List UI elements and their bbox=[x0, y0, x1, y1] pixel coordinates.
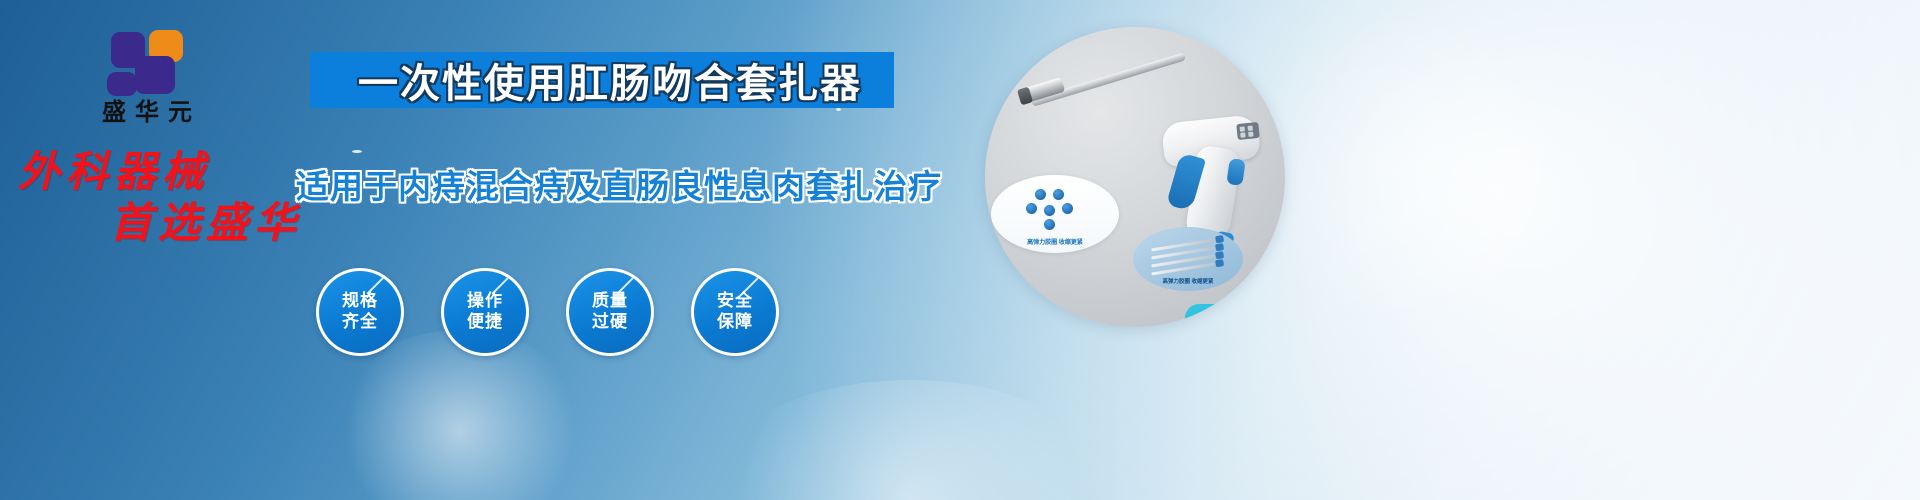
badge-label: 规格 齐全 bbox=[342, 291, 378, 332]
page-subtitle: 适用于内痔混合痔及直肠良性息肉套扎治疗 bbox=[296, 160, 896, 208]
badge-operation[interactable]: 操作 便捷 bbox=[441, 268, 529, 356]
badge-label: 安全 保障 bbox=[717, 291, 753, 332]
background-glow bbox=[1240, 20, 1580, 320]
promotional-banner: 盛华元 外科器械 首选盛华 一次性使用肛肠吻合套扎器 适用于内痔混合痔及直肠良性… bbox=[0, 0, 1920, 500]
shenghuayuan-logo-mark bbox=[103, 28, 191, 96]
inset-caption: 高弹力胶圈 收缩更紧 bbox=[1133, 277, 1243, 285]
badge-label-line2: 齐全 bbox=[342, 312, 378, 331]
brand-name: 盛华元 bbox=[62, 100, 232, 126]
badge-label: 操作 便捷 bbox=[467, 291, 503, 332]
sparkle-decoration bbox=[352, 150, 362, 153]
badge-safety[interactable]: 安全 保障 bbox=[691, 268, 779, 356]
brand-logo[interactable]: 盛华元 bbox=[62, 28, 232, 126]
product-photo: 高弹力胶圈 收缩更紧 高弹力胶圈 收缩更紧 bbox=[985, 27, 1285, 327]
inset-tube bbox=[1185, 304, 1285, 327]
inset-needles: 高弹力胶圈 收缩更紧 bbox=[1133, 227, 1243, 291]
badge-label-line2: 保障 bbox=[717, 312, 753, 331]
badge-label-line2: 便捷 bbox=[467, 312, 503, 331]
badge-label-line2: 过硬 bbox=[592, 312, 628, 331]
badge-quality[interactable]: 质量 过硬 bbox=[566, 268, 654, 356]
device-button bbox=[1226, 158, 1245, 186]
device-keypad bbox=[1236, 122, 1260, 140]
feature-badge-list: 规格 齐全 操作 便捷 质量 过硬 安全 保障 bbox=[316, 268, 779, 356]
badge-label-line1: 规格 bbox=[342, 291, 378, 310]
background-glow bbox=[700, 380, 1120, 500]
inset-ligation-rings: 高弹力胶圈 收缩更紧 bbox=[991, 175, 1119, 253]
badge-label-line1: 安全 bbox=[717, 291, 753, 310]
inset-caption: 高弹力胶圈 收缩更紧 bbox=[991, 237, 1119, 246]
badge-label-line1: 质量 bbox=[592, 291, 628, 310]
badge-label: 质量 过硬 bbox=[592, 291, 628, 332]
badge-label-line1: 操作 bbox=[467, 291, 503, 310]
page-title: 一次性使用肛肠吻合套扎器 bbox=[330, 52, 890, 108]
badge-specifications[interactable]: 规格 齐全 bbox=[316, 268, 404, 356]
